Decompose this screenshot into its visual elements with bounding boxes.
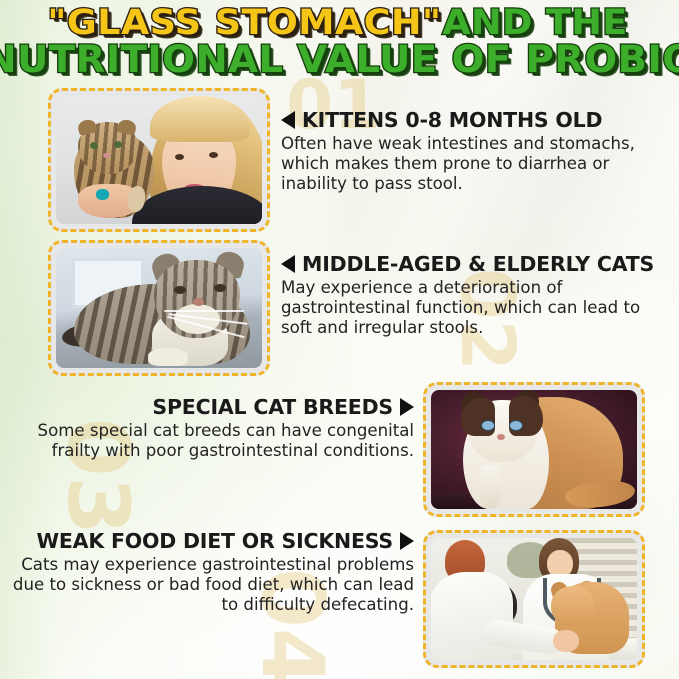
section-4-body: Cats may experience gastrointestinal pro…: [10, 555, 414, 616]
photo-image-vet-exam: [431, 538, 637, 660]
section-1: KITTENS 0-8 MONTHS OLD Often have weak i…: [281, 108, 673, 195]
vet-a-hand: [553, 630, 579, 652]
cat-whisker-1: [164, 310, 244, 312]
section-2-heading-row: MIDDLE-AGED & ELDERLY CATS: [281, 252, 673, 276]
poster-title: "GLASS STOMACH" AND THE NUTRITIONAL VALU…: [0, 6, 679, 79]
title-line-1: "GLASS STOMACH" AND THE: [0, 6, 679, 40]
section-4: WEAK FOOD DIET OR SICKNESS Cats may expe…: [10, 529, 414, 616]
woman-hair-top: [150, 96, 250, 142]
section-1-body: Often have weak intestines and stomachs,…: [281, 134, 673, 195]
woman-eye-right: [209, 152, 218, 158]
left-triangle-icon: [281, 111, 295, 129]
title-line-2: NUTRITIONAL VALUE OF PROBIOTICS: [0, 42, 679, 78]
section-3-body: Some special cat breeds can have congeni…: [14, 421, 414, 461]
photo-image-kitten: [56, 96, 262, 224]
title-yellow-text: "GLASS STOMACH": [47, 6, 441, 40]
kitten-eye-right: [114, 141, 122, 148]
section-4-heading: WEAK FOOD DIET OR SICKNESS: [36, 529, 393, 553]
section-2: MIDDLE-AGED & ELDERLY CATS May experienc…: [281, 252, 673, 339]
cat-eye-right: [214, 284, 226, 292]
photo-frame-vet-exam: [423, 530, 645, 668]
section-4-heading-row: WEAK FOOD DIET OR SICKNESS: [10, 529, 414, 553]
right-triangle-icon: [400, 532, 414, 550]
ragdoll-front-leg: [479, 465, 501, 509]
photo-frame-ragdoll-cat: [423, 382, 645, 517]
section-3-heading: SPECIAL CAT BREEDS: [152, 395, 393, 419]
teal-nail: [96, 189, 109, 200]
left-triangle-icon: [281, 255, 295, 273]
section-2-heading: MIDDLE-AGED & ELDERLY CATS: [302, 252, 654, 276]
title-green-text-2: NUTRITIONAL VALUE OF PROBIOTICS: [0, 42, 679, 78]
kitten-eye-left: [90, 142, 98, 149]
section-3: SPECIAL CAT BREEDS Some special cat bree…: [14, 395, 414, 461]
orange-cat-head: [551, 586, 595, 626]
title-green-text-1: AND THE: [443, 6, 628, 40]
photo-frame-kitten: [48, 88, 270, 232]
infographic-poster: 01 02 03 04 "GLASS STOMACH" AND THE NUTR…: [0, 0, 679, 679]
ragdoll-eye-right: [509, 420, 523, 431]
photo-frame-elderly-cat: [48, 240, 270, 376]
ragdoll-eye-left: [481, 420, 495, 431]
section-1-heading: KITTENS 0-8 MONTHS OLD: [302, 108, 602, 132]
photo-image-ragdoll-cat: [431, 390, 637, 509]
photo-image-elderly-cat: [56, 248, 262, 368]
woman-eye-left: [175, 154, 184, 160]
ragdoll-nose: [497, 434, 505, 440]
cat-paw: [148, 348, 188, 366]
section-1-heading-row: KITTENS 0-8 MONTHS OLD: [281, 108, 673, 132]
section-2-body: May experience a deterioration of gastro…: [281, 278, 673, 339]
cat-eye-left: [174, 286, 186, 294]
right-triangle-icon: [400, 398, 414, 416]
section-3-heading-row: SPECIAL CAT BREEDS: [14, 395, 414, 419]
kitten-nose: [103, 153, 110, 158]
cat-nose: [193, 298, 204, 306]
